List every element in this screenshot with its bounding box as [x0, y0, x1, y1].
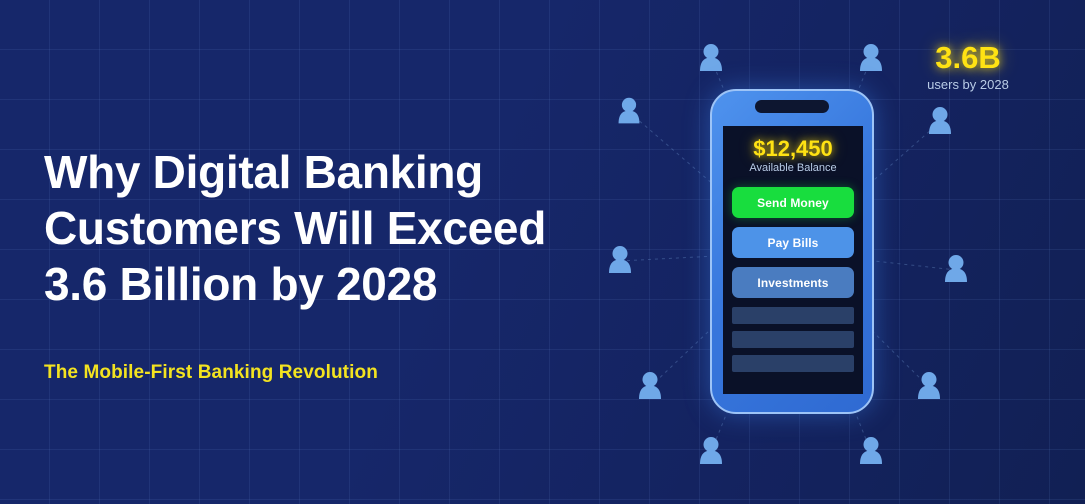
- phone-mockup: $12,450 Available Balance Send Money Pay…: [710, 89, 874, 414]
- user-avatar-icon: [929, 107, 951, 134]
- stat-label: users by 2028: [898, 77, 1038, 92]
- balance-label: Available Balance: [723, 162, 863, 175]
- investments-button[interactable]: Investments: [732, 267, 854, 298]
- transaction-placeholder-row: [732, 307, 854, 324]
- user-avatar-icon: [945, 255, 967, 282]
- headline-line-3: 3.6 Billion by 2028: [44, 256, 624, 312]
- page-title: Why Digital Banking Customers Will Excee…: [44, 144, 624, 312]
- subtitle: The Mobile-First Banking Revolution: [44, 362, 378, 384]
- user-avatar-icon: [918, 372, 940, 399]
- stat-badge: 3.6B users by 2028: [898, 41, 1038, 92]
- user-avatar-icon: [700, 44, 722, 71]
- phone-screen: $12,450 Available Balance Send Money Pay…: [723, 126, 863, 394]
- infographic-canvas: Why Digital Banking Customers Will Excee…: [0, 0, 1085, 504]
- transaction-placeholder-list: [723, 307, 863, 372]
- phone-notch: [755, 100, 829, 113]
- pay-bills-button[interactable]: Pay Bills: [732, 227, 854, 258]
- stat-value: 3.6B: [898, 41, 1038, 74]
- headline-line-2: Customers Will Exceed: [44, 200, 624, 256]
- headline-line-1: Why Digital Banking: [44, 144, 624, 200]
- user-avatar-icon: [700, 437, 722, 464]
- transaction-placeholder-row: [732, 331, 854, 348]
- user-avatar-icon: [860, 437, 882, 464]
- balance-amount: $12,450: [723, 137, 863, 161]
- send-money-button[interactable]: Send Money: [732, 187, 854, 218]
- user-avatar-icon: [619, 98, 640, 124]
- balance-section: $12,450 Available Balance: [723, 126, 863, 175]
- user-avatar-icon: [860, 44, 882, 71]
- transaction-placeholder-row: [732, 355, 854, 372]
- user-avatar-icon: [639, 372, 661, 399]
